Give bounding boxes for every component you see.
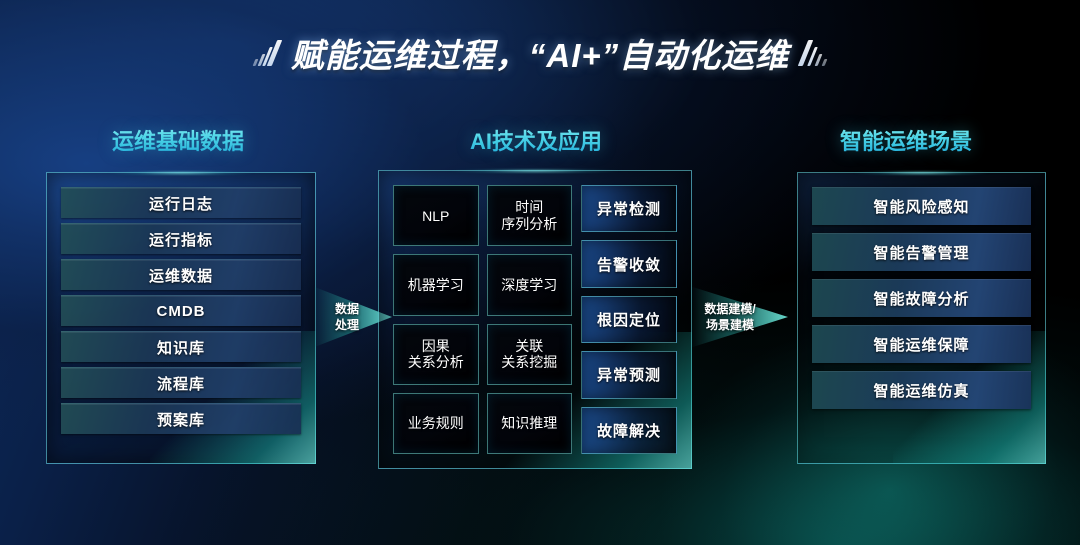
column-header-left: 运维基础数据 xyxy=(112,124,244,156)
list-item[interactable]: 知识库 xyxy=(61,331,301,362)
list-item[interactable]: 运维数据 xyxy=(61,259,301,290)
slide-canvas: 赋能运维过程，“AI+”自动化运维 运维基础数据 AI技术及应用 智能运维场景 … xyxy=(0,0,1080,545)
ai-output-list: 异常检测 告警收敛 根因定位 异常预测 故障解决 xyxy=(581,185,677,454)
arrow-label: 数据 处理 xyxy=(335,301,359,333)
flow-arrow-data-modeling: 数据建模/ 场景建模 xyxy=(692,281,788,353)
panel-aiops-scenarios: 智能风险感知 智能告警管理 智能故障分析 智能运维保障 智能运维仿真 xyxy=(797,172,1046,464)
arrow-label-line1: 数据 xyxy=(335,302,359,316)
list-item[interactable]: CMDB xyxy=(61,295,301,326)
arrow-label-line2: 处理 xyxy=(335,318,359,332)
tech-cell[interactable]: 时间序列分析 xyxy=(487,185,573,246)
tech-cell[interactable]: 深度学习 xyxy=(487,254,573,315)
list-item[interactable]: 智能运维仿真 xyxy=(812,371,1031,409)
list-item[interactable]: 智能告警管理 xyxy=(812,233,1031,271)
list-item[interactable]: 智能风险感知 xyxy=(812,187,1031,225)
output-item[interactable]: 异常检测 xyxy=(581,185,677,232)
list-item[interactable]: 智能故障分析 xyxy=(812,279,1031,317)
title-block: 赋能运维过程，“AI+”自动化运维 xyxy=(0,22,1080,84)
title-decor-right-icon xyxy=(803,40,826,66)
tech-cell[interactable]: 业务规则 xyxy=(393,393,479,454)
output-item[interactable]: 根因定位 xyxy=(581,296,677,343)
column-header-middle: AI技术及应用 xyxy=(470,124,602,156)
arrow-label-line1: 数据建模/ xyxy=(704,302,755,316)
page-title: 赋能运维过程，“AI+”自动化运维 xyxy=(291,29,789,77)
tech-cell[interactable]: NLP xyxy=(393,185,479,246)
ai-technique-grid: NLP 时间序列分析 机器学习 深度学习 因果关系分析 关联关系挖掘 业务规则 … xyxy=(393,185,572,454)
tech-cell[interactable]: 因果关系分析 xyxy=(393,324,479,385)
arrow-label: 数据建模/ 场景建模 xyxy=(704,301,755,333)
output-item[interactable]: 告警收敛 xyxy=(581,240,677,287)
list-item[interactable]: 运行指标 xyxy=(61,223,301,254)
list-item[interactable]: 运行日志 xyxy=(61,187,301,218)
arrow-label-line2: 场景建模 xyxy=(706,318,754,332)
output-item[interactable]: 异常预测 xyxy=(581,351,677,398)
tech-cell[interactable]: 关联关系挖掘 xyxy=(487,324,573,385)
tech-cell[interactable]: 机器学习 xyxy=(393,254,479,315)
list-item[interactable]: 流程库 xyxy=(61,367,301,398)
list-item[interactable]: 预案库 xyxy=(61,403,301,434)
column-header-right: 智能运维场景 xyxy=(840,124,972,156)
title-decor-left-icon xyxy=(254,40,277,66)
output-item[interactable]: 故障解决 xyxy=(581,407,677,454)
panel-ai-tech: NLP 时间序列分析 机器学习 深度学习 因果关系分析 关联关系挖掘 业务规则 … xyxy=(378,170,692,469)
panel-base-data: 运行日志 运行指标 运维数据 CMDB 知识库 流程库 预案库 xyxy=(46,172,316,464)
list-item[interactable]: 智能运维保障 xyxy=(812,325,1031,363)
tech-cell[interactable]: 知识推理 xyxy=(487,393,573,454)
